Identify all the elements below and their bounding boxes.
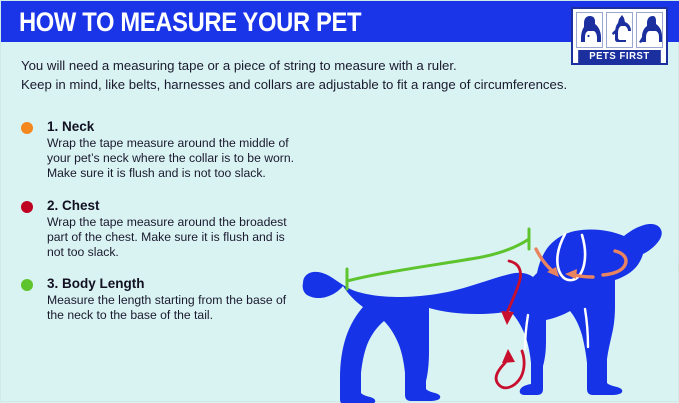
bullet-body-length-icon <box>21 279 33 291</box>
chest-arrowhead-up <box>502 349 515 363</box>
logo-icon-row <box>576 12 663 48</box>
dog-silhouette-icon <box>303 224 662 403</box>
chest-arrowhead-down <box>501 311 514 325</box>
intro-line-2: Keep in mind, like belts, harnesses and … <box>21 75 621 94</box>
intro-text: You will need a measuring tape or a piec… <box>21 56 621 94</box>
infographic-page: HOW TO MEASURE YOUR PET PETS FIRST <box>0 0 679 402</box>
step-title: 1. Neck <box>47 119 296 135</box>
step-item-body-length: 3. Body Length Measure the length starti… <box>21 276 296 323</box>
bullet-neck-icon <box>21 122 33 134</box>
step-item-chest: 2. Chest Wrap the tape measure around th… <box>21 198 296 261</box>
bullet-chest-icon <box>21 201 33 213</box>
dog-standing-icon <box>636 12 663 48</box>
dog-measurement-diagram: BODY LENGTH NECK CHEST <box>297 101 679 403</box>
dog-sitting-icon <box>576 12 603 48</box>
steps-list: 1. Neck Wrap the tape measure around the… <box>21 119 296 340</box>
page-title: HOW TO MEASURE YOUR PET <box>19 7 361 37</box>
step-body: Wrap the tape measure around the middle … <box>47 136 296 182</box>
dog-illustration <box>297 101 679 403</box>
intro-line-1: You will need a measuring tape or a piec… <box>21 56 621 75</box>
dog-begging-icon <box>606 12 633 48</box>
step-title: 2. Chest <box>47 198 296 214</box>
step-item-neck: 1. Neck Wrap the tape measure around the… <box>21 119 296 182</box>
step-title: 3. Body Length <box>47 276 296 292</box>
step-body: Measure the length starting from the bas… <box>47 293 296 323</box>
step-body: Wrap the tape measure around the broades… <box>47 215 296 261</box>
